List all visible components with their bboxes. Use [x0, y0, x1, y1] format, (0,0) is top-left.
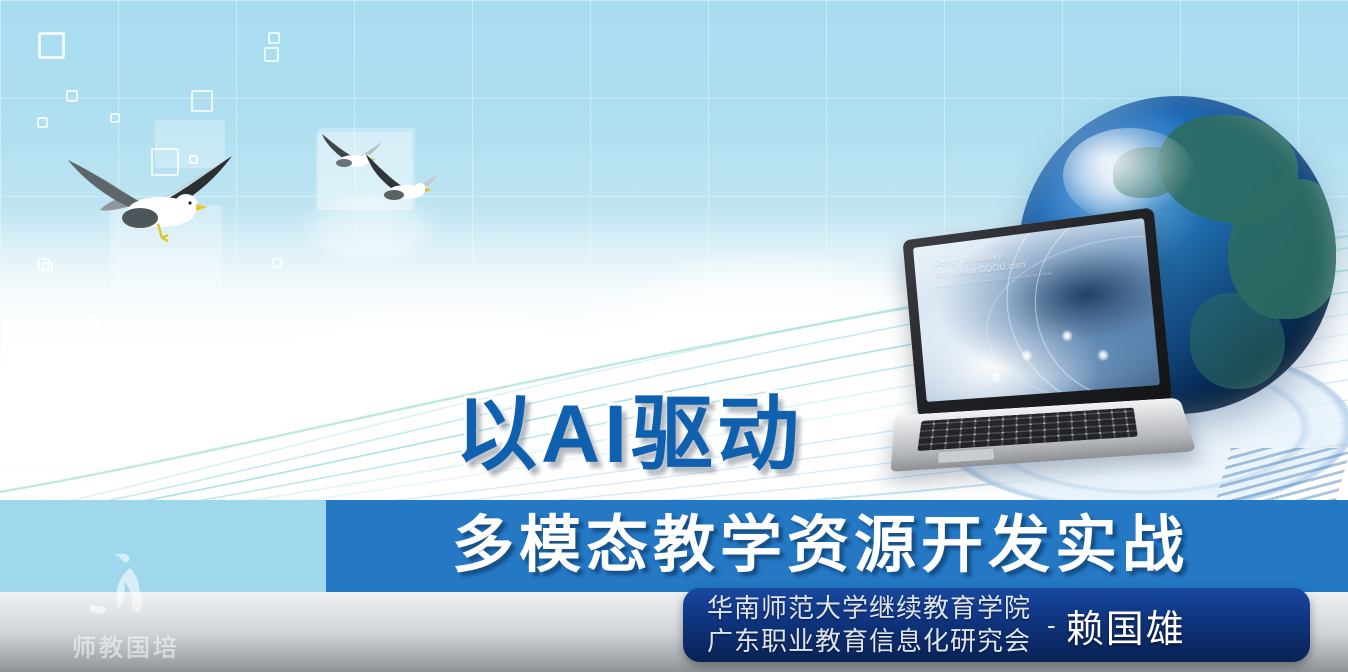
slide-title-sub: 多模态教学资源开发实战 [452, 505, 1189, 587]
laptop-screen: Design by Laikey http://www.GDOU.com Des… [913, 218, 1160, 402]
accent-band-light [0, 500, 326, 592]
seagull-large-icon [66, 140, 234, 240]
presentation-slide: Design by Laikey http://www.GDOU.com Des… [0, 0, 1348, 672]
credit-bar: 华南师范大学继续教育学院 广东职业教育信息化研究会 - 赖国雄 [683, 588, 1310, 662]
decorative-square-outline [66, 90, 78, 102]
decorative-square-outline [37, 117, 48, 128]
laptop-trackpad [937, 447, 995, 463]
globe-laptop-illustration: Design by Laikey http://www.GDOU.com Des… [888, 96, 1348, 526]
seagull-medium-icon [360, 152, 442, 208]
decorative-square-outline [191, 90, 213, 112]
laptop-computer-icon: Design by Laikey http://www.GDOU.com Des… [894, 224, 1194, 474]
organization-block: 华南师范大学继续教育学院 广东职业教育信息化研究会 [707, 592, 1031, 658]
decorative-square-outline [38, 33, 64, 59]
laptop-keyboard [917, 408, 1137, 451]
organization-line-2: 广东职业教育信息化研究会 [707, 625, 1031, 658]
decorative-square-outline [110, 113, 120, 123]
decorative-square-outline [264, 47, 279, 62]
credit-separator: - [1047, 610, 1056, 641]
organization-line-1: 华南师范大学继续教育学院 [707, 592, 1031, 625]
slide-title-main: 以AI驱动 [455, 392, 803, 478]
decorative-square-outline [268, 32, 280, 44]
laptop-lid: Design by Laikey http://www.GDOU.com Des… [903, 207, 1173, 418]
presenter-name: 赖国雄 [1066, 598, 1186, 653]
